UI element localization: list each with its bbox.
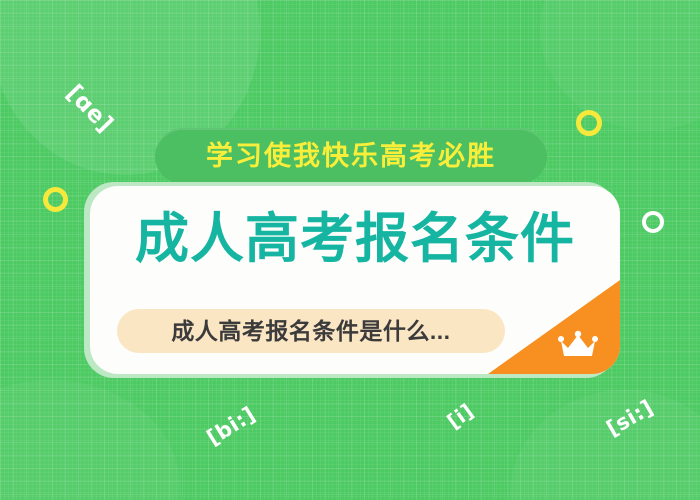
phonetic-si-decoration: [si:] [602,395,657,441]
headline-banner: 学习使我快乐高考必胜 [155,128,547,184]
poster-canvas: [ɑe] [bi:] [i] [si:] 学习使我快乐高考必胜 成人高考报名条件… [0,0,700,500]
background-blob-bottom-right [510,390,700,500]
phonetic-bi-decoration: [bi:] [203,402,260,450]
ring-yellow-right-decoration [576,110,602,136]
phonetic-ae-decoration: [ɑe] [61,80,118,138]
background-blob-bottom-left [0,380,180,500]
crown-icon [558,330,598,360]
subtitle-text: 成人高考报名条件是什么... [171,320,450,343]
page-title: 成人高考报名条件 [90,212,620,266]
subtitle-pill: 成人高考报名条件是什么... [117,309,505,353]
background-blob-top-right [540,0,700,130]
ring-white-right-decoration [642,211,664,233]
main-card: 成人高考报名条件 成人高考报名条件是什么... [90,186,620,374]
phonetic-i-decoration: [i] [442,398,478,433]
headline-banner-text: 学习使我快乐高考必胜 [206,143,496,170]
orange-corner-wedge [488,280,620,374]
ring-yellow-left-decoration [43,187,68,212]
